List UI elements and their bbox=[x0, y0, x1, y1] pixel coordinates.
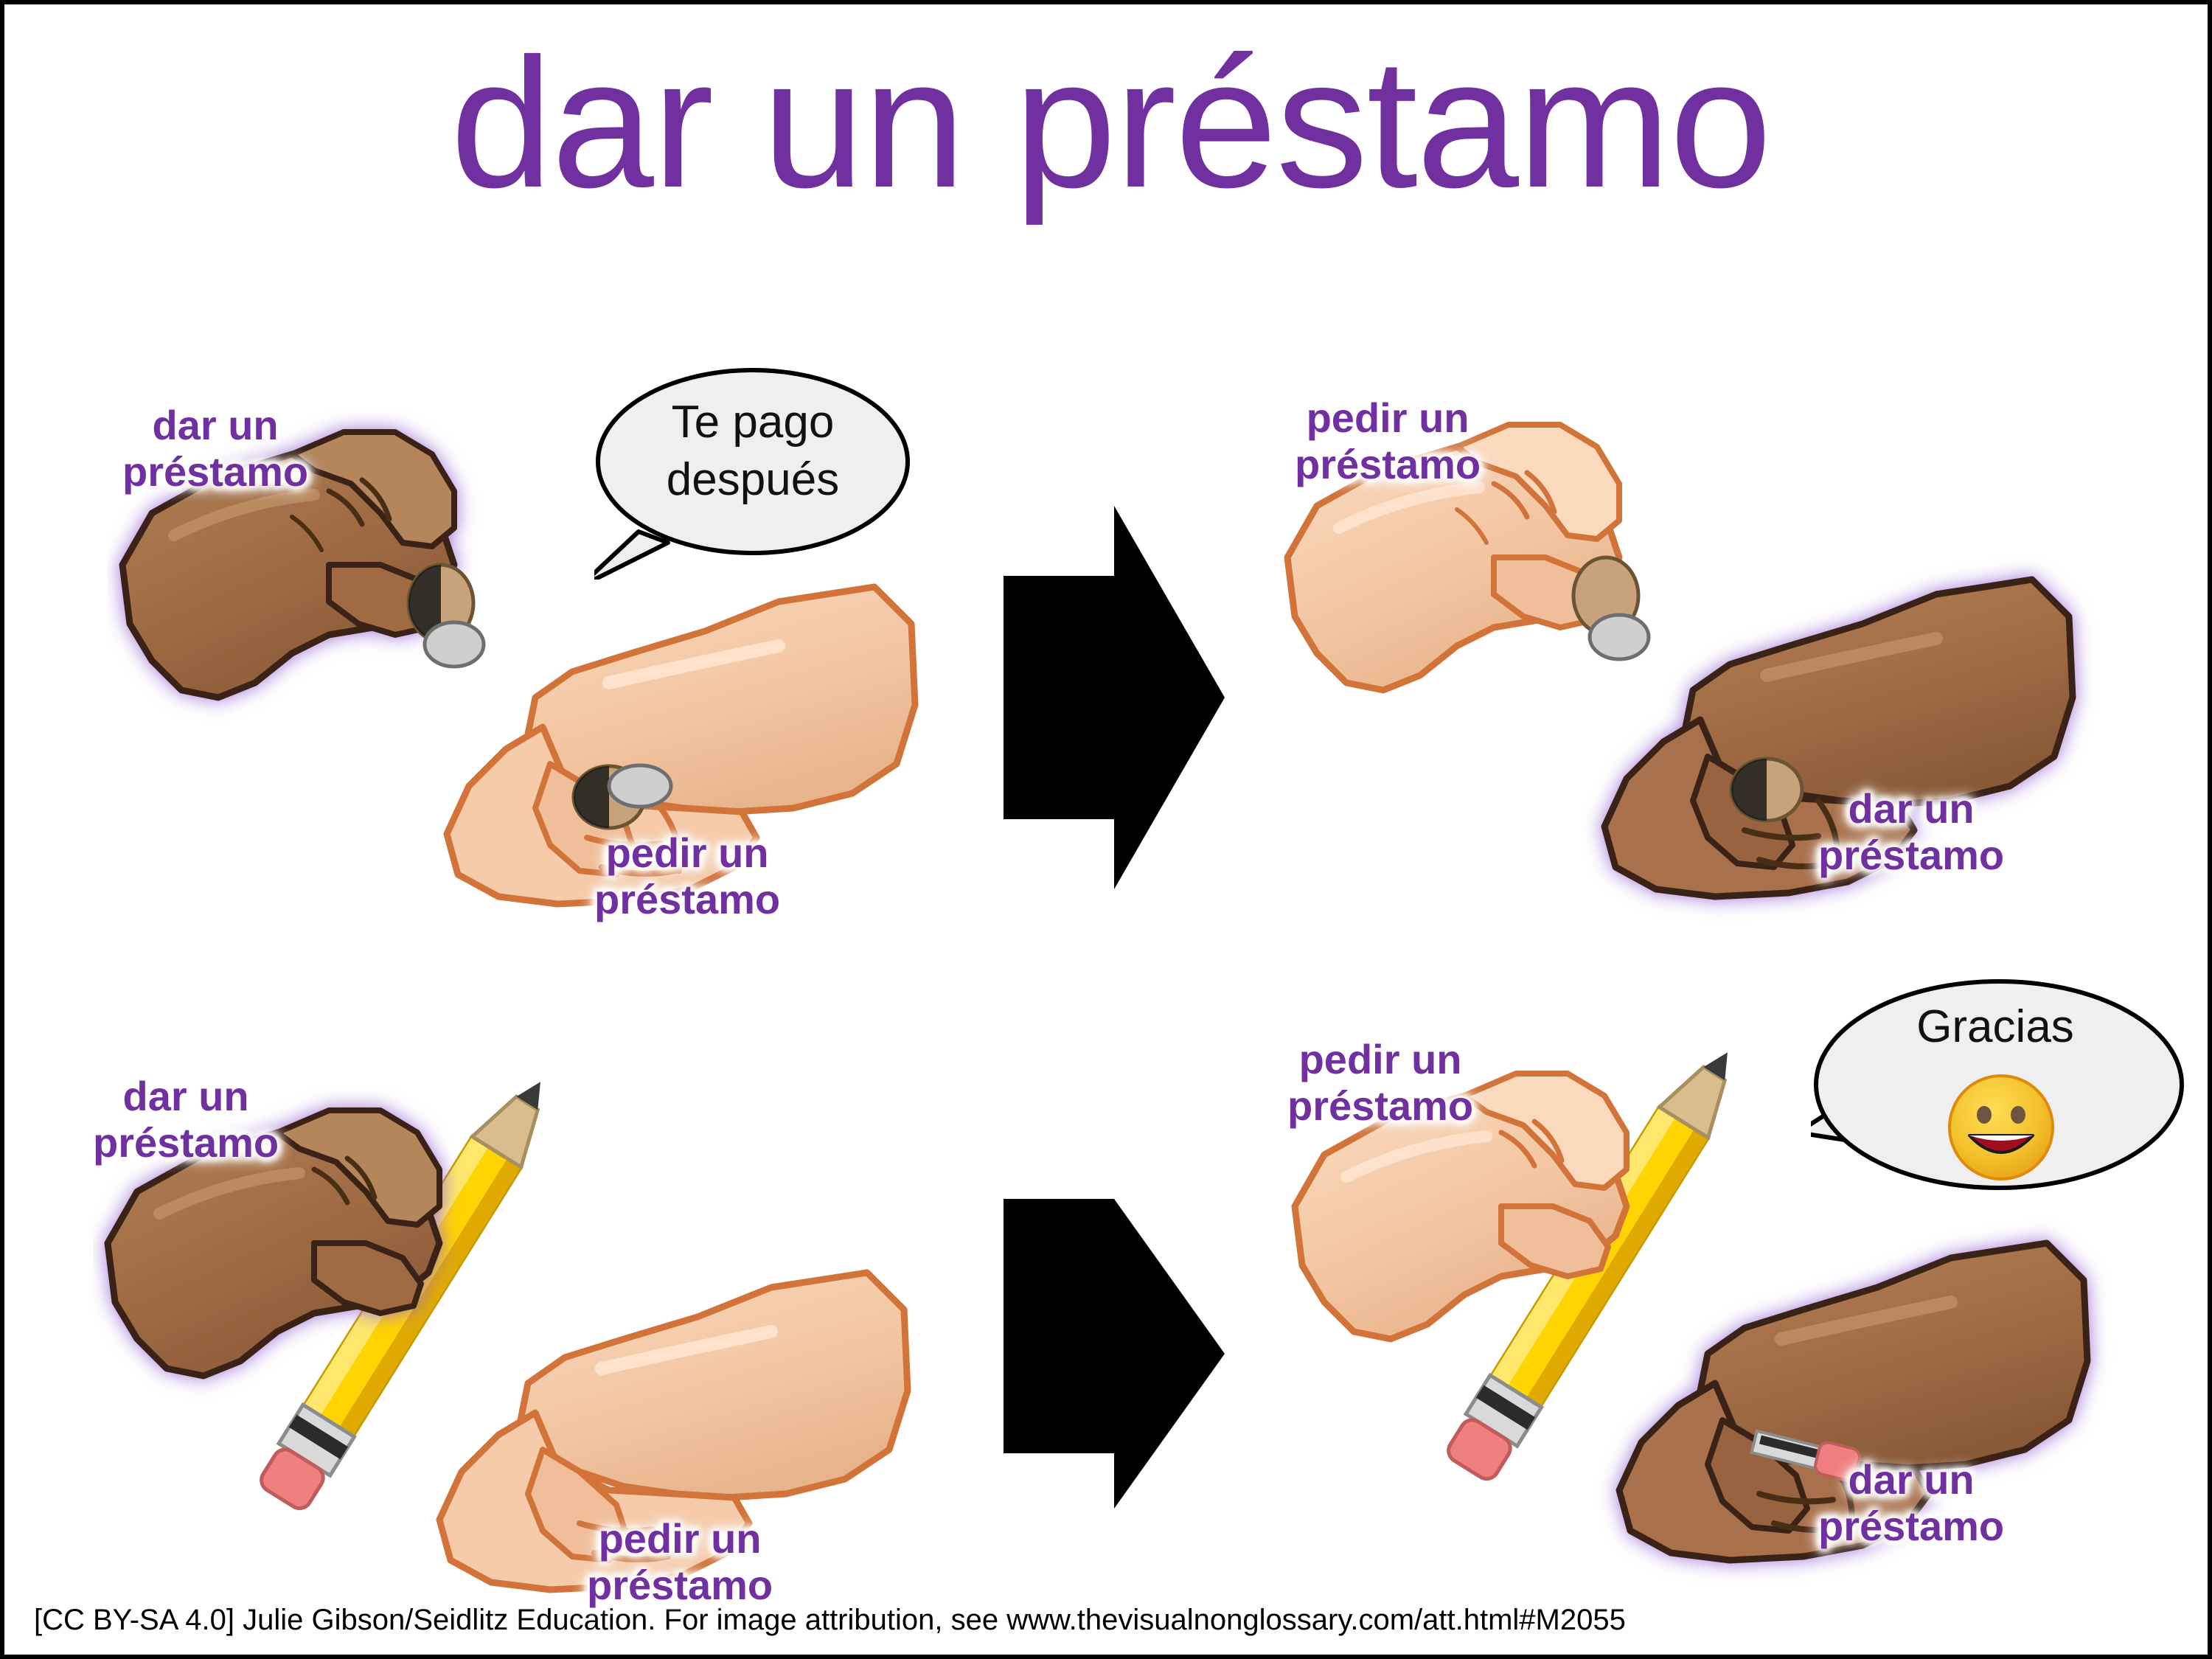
dark-hand-receiving-coin-illustration bbox=[1523, 535, 2128, 963]
speech-bubble-text: Gracias bbox=[1811, 998, 2180, 1056]
label-dar-un-prestamo-giver: dar un préstamo bbox=[93, 1074, 279, 1166]
speech-line-2: después bbox=[594, 451, 911, 509]
speech-line-1: Gracias bbox=[1811, 998, 2180, 1056]
page-title: dar un préstamo bbox=[4, 27, 2212, 220]
label-line-1: dar un bbox=[122, 403, 308, 449]
arrow-right-shape bbox=[1004, 1199, 1225, 1509]
label-pedir-un-prestamo-giver: pedir un préstamo bbox=[1295, 395, 1481, 487]
speech-bubble-text: Te pago después bbox=[594, 394, 911, 508]
label-dar-un-prestamo-giver: dar un préstamo bbox=[122, 403, 308, 495]
speech-line-1: Te pago bbox=[594, 394, 911, 451]
label-line-1: pedir un bbox=[594, 830, 780, 877]
label-line-1: dar un bbox=[1818, 1457, 2004, 1503]
arrow-right-shape bbox=[1004, 506, 1225, 889]
dark-hand-receiving-pencil-illustration bbox=[1538, 1206, 2143, 1634]
label-line-2: préstamo bbox=[122, 449, 308, 495]
label-pedir-un-prestamo-receiver: pedir un préstamo bbox=[587, 1516, 773, 1608]
label-line-1: pedir un bbox=[587, 1516, 773, 1562]
label-pedir-un-prestamo-receiver: pedir un préstamo bbox=[594, 830, 780, 922]
label-line-2: préstamo bbox=[1818, 1503, 2004, 1550]
label-line-2: préstamo bbox=[1295, 442, 1481, 488]
label-line-2: préstamo bbox=[93, 1120, 279, 1166]
speech-bubble-te-pago-despues: Te pago después bbox=[594, 366, 911, 565]
label-line-1: pedir un bbox=[1295, 395, 1481, 442]
speech-bubble-gracias: Gracias bbox=[1811, 978, 2180, 1199]
coin-in-palm-icon bbox=[1731, 759, 1802, 821]
label-line-1: dar un bbox=[93, 1074, 279, 1120]
label-line-1: dar un bbox=[1818, 786, 2004, 832]
label-pedir-un-prestamo-giver: pedir un préstamo bbox=[1287, 1037, 1473, 1129]
label-dar-un-prestamo-receiver: dar un préstamo bbox=[1818, 1457, 2004, 1549]
label-line-2: préstamo bbox=[1818, 832, 2004, 879]
smiling-face-icon bbox=[1946, 1072, 2056, 1183]
arrow-right-icon-bottom bbox=[1004, 1199, 1225, 1509]
label-line-1: pedir un bbox=[1287, 1037, 1473, 1083]
label-line-2: préstamo bbox=[594, 877, 780, 923]
panel-coin-handoff-after: pedir un préstamo dar un préstamo bbox=[1302, 329, 2150, 933]
arrow-right-icon-top bbox=[1004, 506, 1225, 889]
panel-pencil-handoff-before: dar un préstamo pedir un préstamo bbox=[137, 1029, 985, 1619]
label-line-2: préstamo bbox=[1287, 1083, 1473, 1130]
poster-page: dar un préstamo bbox=[0, 0, 2212, 1659]
label-line-2: préstamo bbox=[587, 1562, 773, 1609]
label-dar-un-prestamo-receiver: dar un préstamo bbox=[1818, 786, 2004, 878]
